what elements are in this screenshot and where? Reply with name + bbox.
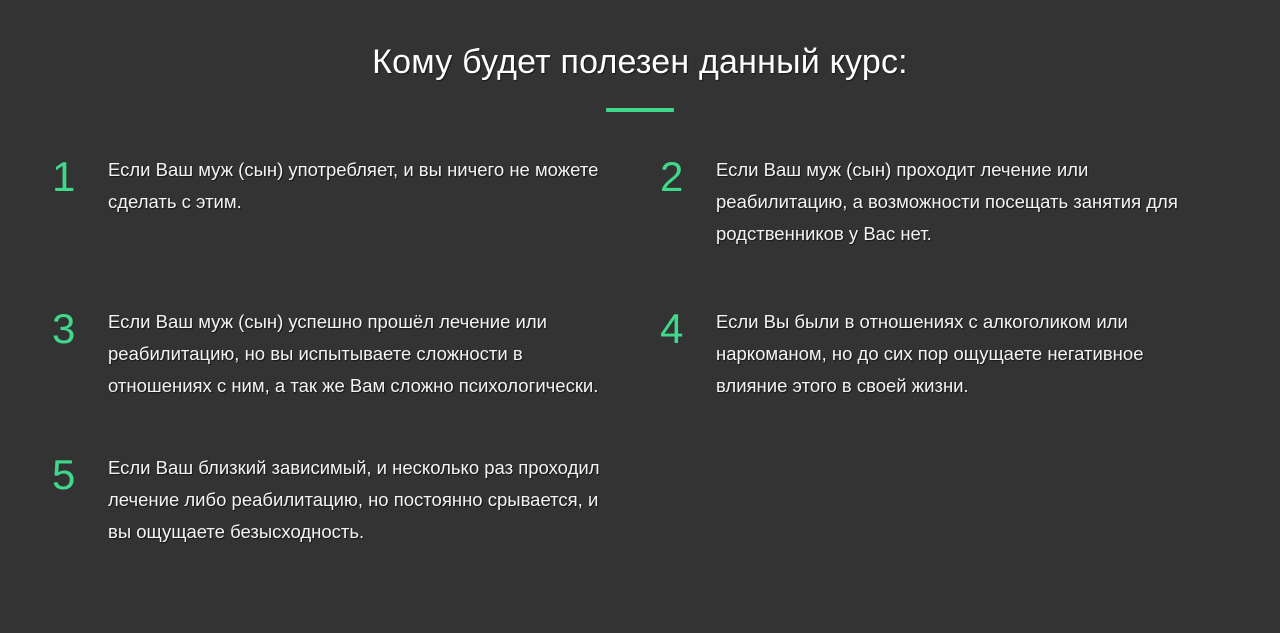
item-text-4: Если Вы были в отношениях с алкоголиком …: [716, 306, 1208, 402]
benefit-items-grid: 1 Если Ваш муж (сын) употребляет, и вы н…: [0, 154, 1280, 548]
slide-root: Кому будет полезен данный курс: 1 Если В…: [0, 0, 1280, 633]
item-text-3: Если Ваш муж (сын) успешно прошёл лечени…: [108, 306, 608, 402]
page-title: Кому будет полезен данный курс:: [0, 42, 1280, 83]
item-number-3: 3: [52, 306, 88, 350]
slide-header: Кому будет полезен данный курс:: [0, 0, 1280, 112]
item-number-2: 2: [660, 154, 696, 198]
item-number-1: 1: [52, 154, 88, 198]
item-text-2: Если Ваш муж (сын) проходит лечение или …: [716, 154, 1208, 250]
title-divider: [606, 108, 674, 112]
list-item: 1 Если Ваш муж (сын) употребляет, и вы н…: [52, 154, 652, 250]
item-text-5: Если Ваш близкий зависимый, и несколько …: [108, 452, 608, 548]
list-item: 3 Если Ваш муж (сын) успешно прошёл лече…: [52, 306, 652, 402]
item-text-1: Если Ваш муж (сын) употребляет, и вы нич…: [108, 154, 608, 218]
item-number-4: 4: [660, 306, 696, 350]
list-item: 2 Если Ваш муж (сын) проходит лечение ил…: [660, 154, 1236, 250]
list-item: 4 Если Вы были в отношениях с алкоголико…: [660, 306, 1236, 402]
item-number-5: 5: [52, 452, 88, 496]
list-item: 5 Если Ваш близкий зависимый, и нескольк…: [52, 452, 652, 548]
